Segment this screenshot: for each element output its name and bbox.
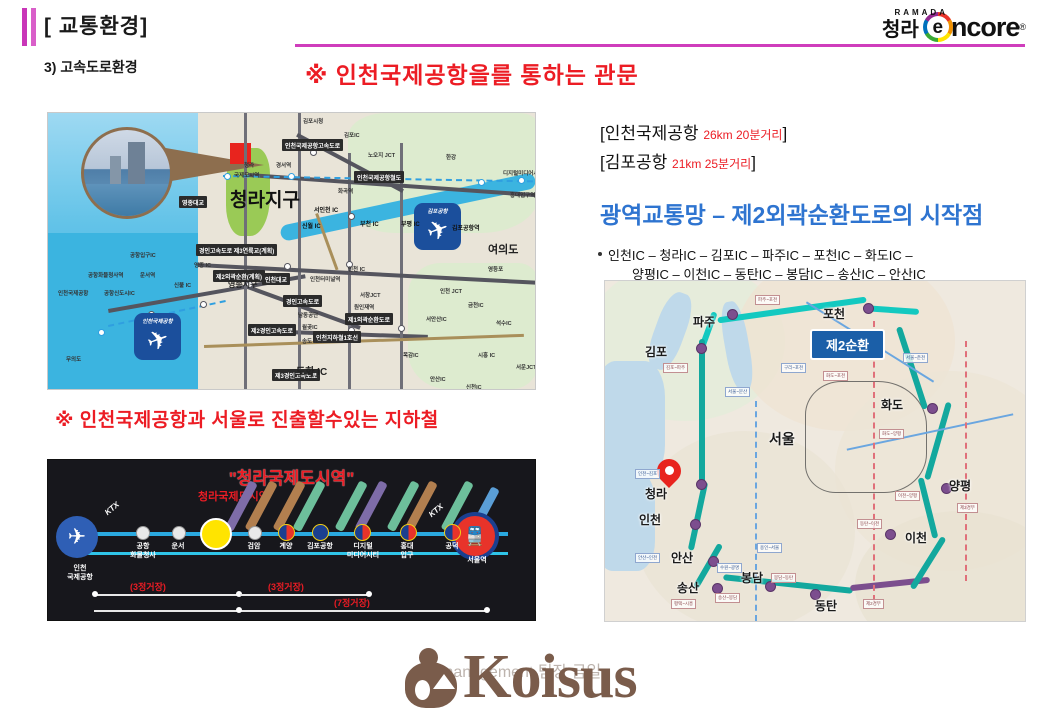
route-box-3: 구리~포천 (781, 363, 806, 373)
route-box-4: 서울~문산 (725, 387, 750, 397)
company-logo: Koisus (0, 638, 1040, 716)
place-label-yeongjong-ic: 영종 IC (194, 261, 211, 269)
subway-section-title: ※ 인천국제공항과 서울로 진출할수있는 지하철 (55, 408, 525, 434)
place-label-dohwa-ic: 인천 IC (348, 265, 365, 273)
route-box-12: 봉담~동탄 (771, 573, 796, 583)
ring-city-incheon: 인천 (639, 511, 661, 528)
city-label-songdo: 도화 IC (296, 363, 327, 378)
place-label-bupyeong-ic: 서인천 IC (314, 205, 338, 214)
incheon-airport-station-icon: ✈ (56, 516, 98, 558)
city-label-yeongjong: 영종지구 (228, 279, 257, 290)
place-label-mokgam-ic: 시흥 IC (478, 351, 495, 359)
airport-line-gimpo: [김포공항 21km 25분거리] (600, 149, 787, 178)
place-label-cheongna: 청라 (244, 161, 254, 169)
segment-label-2: (3정거장) (268, 580, 304, 593)
route-box-13: 동탄~이천 (857, 519, 882, 529)
route-box-7: 화도~양평 (879, 429, 904, 439)
place-label-sincheon-ic: 서운JCT (516, 363, 536, 371)
segment-label-1: (3정거장) (130, 580, 166, 593)
interchange-list: 인천IC – 청라IC – 김포IC – 파주IC – 포천IC – 화도IC … (604, 246, 1034, 284)
route-box-2: 김포~파주 (663, 363, 688, 373)
airport-distance: 21km 25분거리 (672, 157, 751, 171)
second-ring-road-map: 제2순환 파주 포천 김포 청라 화도 서울 양평 인천 안산 이천 송산 봉담… (604, 280, 1026, 622)
main-title: ※ 인천국제공항을를 통하는 관문 (305, 56, 639, 90)
ring-node-icheon (885, 529, 896, 540)
bullet-icon (598, 252, 602, 256)
registered-mark: ® (1019, 22, 1026, 32)
route-box-5: 인천~김포 (635, 469, 660, 479)
map-tag-incheon-bridge: 인천대교 (262, 273, 290, 285)
place-label-nooji-jct: 노오지 JCT (368, 151, 395, 159)
station-dot-unseo (172, 526, 186, 540)
map-tag-2nd-gyeongin-expressway: 제2경인고속도로 (248, 324, 296, 336)
place-label-incheon-terminal: 서창JCT (360, 291, 381, 299)
brand-logo: 청라 e ncore ® RAMADA (882, 6, 1026, 48)
cheongna-district-label: 청라지구 (230, 185, 300, 212)
ring-city-paju: 파주 (693, 313, 715, 330)
station-dot-hongdae (400, 524, 417, 541)
encore-e-letter: e (927, 16, 949, 38)
place-label-bucheon-ic: 부평 IC (401, 219, 420, 228)
ktx-label-right: KTX (427, 502, 445, 519)
airplane-icon: ✈ (143, 324, 172, 356)
route-box-6: 화도~포천 (823, 371, 848, 381)
place-label-airport-entrance-ic: 공항입구IC (130, 251, 156, 259)
brand-logo-ramada: RAMADA (894, 8, 948, 17)
brand-logo-encore: ncore (951, 12, 1020, 43)
route-box-15: 제2경부 (957, 503, 978, 513)
map-tag-1st-ring-road: 제1외곽순환도로 (345, 313, 393, 325)
highway-access-map: 김포공항 ✈ 인천국제공항 ✈ 인천국제공항고속도로 인천국제공항철도 영종대교… (47, 112, 536, 390)
station-label-unseo: 운서 (156, 542, 200, 551)
city-label-yeouido: 여의도 (488, 241, 518, 257)
header-accent-bar-2 (31, 8, 36, 46)
ring-road-badge: 제2순환 (810, 329, 885, 360)
route-box-18: 송산~봉담 (715, 593, 740, 603)
place-label-sinwol-ic: 김포공항역 (452, 223, 480, 232)
place-label-seoincheon-ic: 신월 IC (302, 221, 321, 230)
ring-node-hwado (927, 403, 938, 414)
ring-city-cheongna: 청라 (645, 485, 667, 502)
koisus-wordmark: Koisus (463, 642, 636, 713)
bracket-close: ] (782, 124, 787, 143)
header-divider (295, 44, 1025, 47)
route-box-17: 평택~시흥 (671, 599, 696, 609)
ring-node-paju (727, 309, 738, 320)
interchange-list-line-1: 인천IC – 청라IC – 김포IC – 파주IC – 포천IC – 화도IC … (614, 246, 1034, 265)
place-label-gimpo-city-hall: 김포시청 (303, 117, 323, 125)
koisus-figure-icon (403, 646, 459, 708)
place-label-incheon-jct: 서안산IC (426, 315, 447, 323)
ring-node-incheon (690, 519, 701, 530)
incheon-airport-badge: 인천국제공항 ✈ (134, 313, 181, 360)
place-label-hongdae-station: 홍대입구역 (510, 191, 535, 199)
subway-route-diagram: "청라국제도시역" 청라국제도시역 ✈ 인천 국제공항 🚆 서울역 KTX KT… (47, 459, 536, 621)
place-label-intl-city-station: 국제도시역 (234, 171, 259, 179)
place-label-seoansan-ic: 안산IC (430, 375, 446, 383)
place-label-muuido: 무의도 (66, 355, 81, 363)
network-heading: 광역교통망 – 제2외곽순환도로의 시작점 (600, 200, 1030, 230)
place-label-wonincheon-station: 남동공단 (298, 311, 318, 319)
place-label-seochang-jct: 원인재역 (354, 303, 374, 311)
place-label-incheon-ic: 인천터미널역 (310, 275, 340, 283)
station-dot-gyeyang (278, 524, 295, 541)
cheongna-location-pin (657, 459, 681, 483)
station-dot-geomam (248, 526, 262, 540)
station-dot-cheongna-highlight (200, 518, 232, 550)
station-dot-gongdeok (444, 524, 461, 541)
airport-name: 인천국제공항 (605, 124, 699, 143)
place-label-dmc-station: 디지털미디어시티역 (503, 169, 536, 177)
map-tag-yeongjong-bridge: 영종대교 (179, 196, 207, 208)
map-tag-gyeongin-expressway: 경인고속도로 (283, 295, 322, 307)
place-label-wolgot-ic: 목감IC (403, 351, 419, 359)
airport-distance: 26km 20분거리 (703, 128, 782, 142)
place-label-siheung-ic: 인천 JCT (440, 287, 462, 295)
route-box-1: 파주~포천 (755, 295, 780, 305)
route-box-9: 안산~인천 (635, 553, 660, 563)
place-label-sinbul-ic: 신불 IC (174, 281, 191, 289)
place-label-gimpo-ic: 김포IC (344, 131, 360, 139)
airport-distance-list: [인천국제공항 26km 20분거리] [김포공항 21km 25분거리] (600, 120, 787, 178)
place-label-incheon-intl-airport: 인천국제공항 (58, 289, 88, 297)
station-label-incheon-airport: 인천 국제공항 (52, 564, 108, 582)
airport-line-incheon: [인천국제공항 26km 20분거리] (600, 120, 787, 149)
map-tag-3rd-link-plan: 경인고속도로 제3연륙교(계획) (196, 244, 277, 256)
ring-node-pocheon (863, 303, 874, 314)
ktx-label-left: KTX (103, 500, 121, 517)
header-accent-bar-1 (22, 8, 27, 46)
place-label-unseo-station: 운서역 (140, 271, 155, 279)
station-label-hongdae: 홍대 입구 (382, 542, 432, 560)
ring-city-pocheon: 포천 (823, 305, 845, 322)
ring-city-songsan: 송산 (677, 579, 699, 596)
ring-city-bongdam: 봉담 (741, 569, 763, 586)
bracket-close: ] (751, 153, 756, 172)
place-label-airport-newtown-ic: 공항신도시IC (104, 289, 135, 297)
map-tag-airport-railroad: 인천국제공항철도 (354, 171, 404, 183)
place-label-namdong-complex: 월곶IC (302, 323, 318, 331)
section-subheading: 3) 고속도로환경 (44, 57, 138, 77)
station-dot-cargo (136, 526, 150, 540)
development-photo-bubble (81, 127, 173, 219)
place-label-songdo-jct: 송도 JCT (302, 337, 324, 345)
place-label-geumcheon-ic: 금천IC (468, 301, 484, 309)
map-tag-incheon-airport-expressway: 인천국제공항고속도로 (282, 139, 343, 151)
route-box-16: 제2경부 (863, 599, 884, 609)
place-label-ansan-ic: 신천IC (466, 383, 482, 390)
ring-city-seoul: 서울 (769, 429, 795, 449)
page-title: [ 교통환경] (44, 10, 148, 40)
place-label-seoksu-ic: 석수IC (496, 319, 512, 327)
station-dot-gimpo-airport (312, 524, 329, 541)
route-box-8: 서울~춘천 (903, 353, 928, 363)
ring-city-dongtan: 동탄 (815, 597, 837, 614)
place-label-cargo-terminal-station: 공항화물청사역 (88, 271, 123, 279)
ring-city-gimpo: 김포 (645, 343, 667, 360)
airport-name: 김포공항 (605, 153, 668, 172)
ring-city-icheon: 이천 (905, 529, 927, 546)
place-label-yeongdeungpo: 영등포 (488, 265, 503, 273)
place-label-hangang: 한강 (446, 153, 456, 161)
segment-label-3: (7정거장) (334, 596, 370, 609)
station-dot-dmc (354, 524, 371, 541)
ring-city-hwado: 화도 (881, 396, 903, 413)
ring-node-gimpo (696, 343, 707, 354)
airplane-icon: ✈ (423, 214, 452, 246)
place-label-seoun-jct: 부천 IC (360, 219, 379, 228)
route-box-14: 이천~양평 (895, 491, 920, 501)
ring-node-cheongna (696, 479, 707, 490)
station-label-gongdeok: 공덕 (428, 542, 476, 551)
route-box-10: 수원~광명 (717, 563, 742, 573)
place-label-gyeongseo-station: 경서역 (276, 161, 291, 169)
station-label-seoul-station: 서울역 (449, 556, 505, 565)
ring-city-yangpyeong: 양평 (949, 477, 971, 494)
place-label-gimpo-airport-station: 화곡역 (338, 187, 353, 195)
route-box-11: 용인~서울 (757, 543, 782, 553)
ring-city-ansan: 안산 (671, 549, 693, 566)
